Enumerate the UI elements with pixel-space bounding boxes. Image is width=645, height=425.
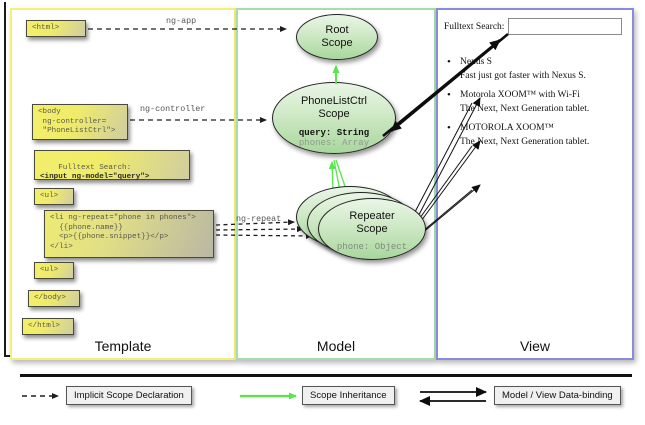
phone-snippet: The Next, Next Generation tablet.	[444, 137, 624, 147]
scope-repeater-title1: Repeater	[349, 210, 394, 222]
scope-ctrl-title2: Scope	[318, 108, 349, 120]
code-box-ul-open: <ul>	[34, 188, 74, 205]
scope-ctrl-member-query: query: String	[273, 128, 395, 138]
code-box-search-input: Fulltext Search: <input ng-model="query"…	[34, 150, 190, 180]
scope-ctrl-title1: PhoneListCtrl	[301, 95, 367, 107]
panel-model: Model	[236, 8, 436, 360]
view-phone-list: Nexus S Fast just got faster with Nexus …	[444, 57, 624, 147]
code-box-body-open: <body ng-controller= "PhoneListCtrl">	[32, 104, 128, 140]
phone-name: MOTOROLA XOOM™	[460, 123, 554, 133]
panel-model-label: Model	[238, 338, 434, 354]
code-search-input-tag: <input ng-model="query">	[40, 173, 149, 181]
scope-repeater-member-phone: phone: Object	[319, 242, 425, 252]
phone-name: Motorola XOOM™ with Wi-Fi	[460, 90, 580, 100]
code-box-body-close: </body>	[28, 290, 80, 307]
view-search-label: Fulltext Search:	[444, 22, 504, 32]
edge-label-ng-repeat: ng-repeat	[236, 214, 281, 224]
code-box-html-close: </html>	[22, 318, 74, 335]
panel-template-label: Template	[12, 338, 234, 354]
scope-root: Root Scope	[296, 14, 378, 60]
code-box-html-open: <html>	[26, 20, 86, 37]
scope-root-title2: Scope	[321, 37, 352, 49]
view-content: Fulltext Search: Nexus S Fast just got f…	[444, 18, 624, 156]
legend-model-view-data-binding: Model / View Data-binding	[494, 386, 621, 405]
list-item[interactable]: MOTOROLA XOOM™	[444, 123, 624, 133]
frame-left-line	[4, 2, 6, 357]
view-search-row: Fulltext Search:	[444, 18, 624, 35]
code-search-label: Fulltext Search:	[58, 164, 131, 172]
legend-implicit-scope-declaration: Implicit Scope Declaration	[66, 386, 192, 405]
diagram-root: Template <html> <body ng-controller= "Ph…	[0, 0, 645, 425]
code-box-li-repeat: <li ng-repeat="phone in phones"> {{phone…	[44, 210, 214, 258]
scope-repeater: Repeater Scope phone: Object	[318, 198, 426, 260]
edge-label-ng-app: ng-app	[166, 16, 196, 26]
list-item[interactable]: Nexus S	[444, 57, 624, 67]
scope-repeater-title2: Scope	[356, 223, 387, 235]
edge-label-ng-controller: ng-controller	[140, 104, 205, 114]
phone-snippet: Fast just got faster with Nexus S.	[444, 71, 624, 81]
code-box-ul-close: <ul>	[34, 262, 74, 279]
panel-view-label: View	[438, 338, 632, 354]
phone-snippet: The Next, Next Generation tablet.	[444, 104, 624, 114]
list-item[interactable]: Motorola XOOM™ with Wi-Fi	[444, 90, 624, 100]
legend-scope-inheritance: Scope Inheritance	[302, 386, 395, 405]
legend-divider	[20, 374, 632, 377]
scope-ctrl-member-phones: phones: Array	[273, 138, 395, 148]
scope-phonelistctrl: PhoneListCtrl Scope query: String phones…	[272, 82, 396, 154]
scope-root-title1: Root	[325, 24, 348, 36]
view-search-input[interactable]	[508, 18, 622, 35]
phone-name: Nexus S	[460, 57, 492, 67]
